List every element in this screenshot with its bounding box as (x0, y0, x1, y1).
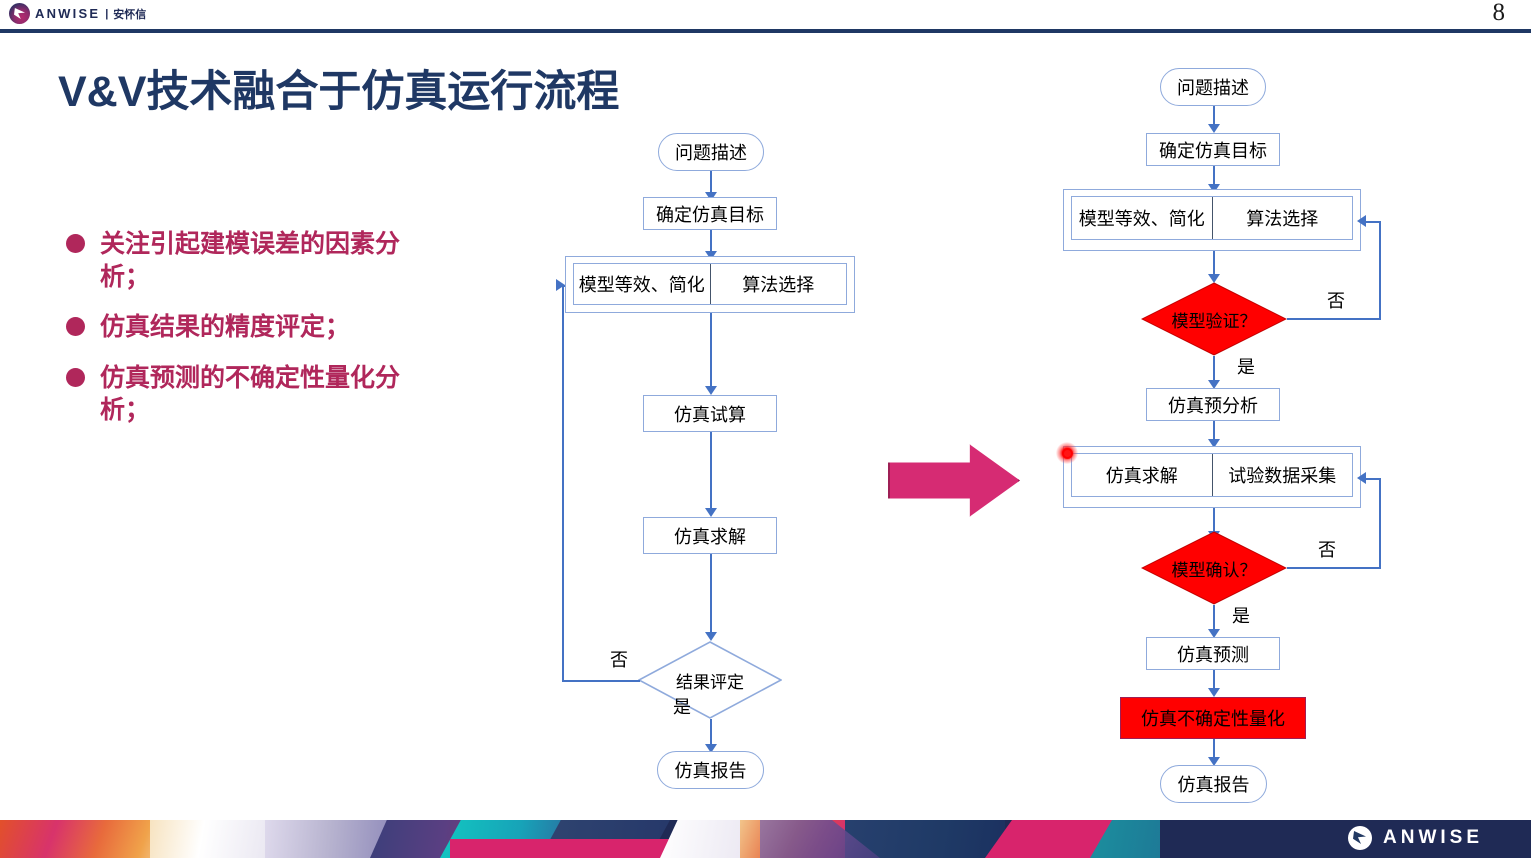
right-node-model-split: 模型等效、简化 算法选择 (1071, 196, 1353, 240)
right-node-algorithm: 算法选择 (1213, 197, 1353, 239)
left-node-report: 仿真报告 (657, 751, 764, 789)
bullet-text: 关注引起建模误差的因素分析； (100, 228, 400, 293)
right-edge-label-yes2: 是 (1232, 602, 1250, 628)
left-node-algorithm: 算法选择 (711, 264, 847, 304)
slide-footer: ANWISE (0, 820, 1531, 858)
right-node-pre-analysis: 仿真预分析 (1146, 388, 1280, 421)
left-edge-label-yes: 是 (673, 693, 691, 719)
left-node-evaluate-label: 结果评定 (638, 641, 782, 719)
footer-brand-text: ANWISE (1383, 827, 1483, 849)
left-arrowhead (705, 632, 717, 641)
right-edge-no1-v (1379, 221, 1381, 320)
list-item: 仿真预测的不确定性量化分析； (66, 362, 466, 427)
right-node-goal: 确定仿真目标 (1146, 133, 1280, 166)
right-node-validate-label: 模型确认？ (1141, 531, 1287, 605)
list-item: 关注引起建模误差的因素分析； (66, 228, 466, 293)
left-edge-label-no: 否 (610, 646, 628, 672)
left-arrowhead (705, 508, 717, 517)
right-node-validate: 模型确认？ (1141, 531, 1287, 605)
footer-band-segment (450, 839, 680, 858)
bullet-dot-icon (66, 368, 85, 387)
bullet-text: 仿真结果的精度评定； (100, 311, 400, 344)
left-edge-solve-evaluate (710, 554, 712, 636)
right-node-solve: 仿真求解 (1072, 454, 1213, 496)
right-edge-no2-h (1287, 567, 1381, 569)
footer-band-segment (150, 820, 280, 858)
right-node-uncertainty: 仿真不确定性量化 (1120, 697, 1306, 739)
left-node-model-split: 模型等效、简化 算法选择 (573, 263, 847, 305)
page-title: V&V技术融合于仿真运行流程 (58, 57, 619, 119)
right-node-solve-split: 仿真求解 试验数据采集 (1071, 453, 1353, 497)
left-edge-no-v (562, 285, 564, 681)
left-edge-model-trial (710, 313, 712, 391)
left-edge-trial-solve (710, 432, 712, 512)
right-arrowhead (1208, 124, 1220, 133)
right-node-predict: 仿真预测 (1146, 637, 1280, 670)
right-edge-label-no1: 否 (1327, 287, 1345, 313)
left-node-goal: 确定仿真目标 (643, 197, 777, 230)
header-logo: ANWISE | 安怀信 (9, 3, 146, 24)
brand-chinese-text: 安怀信 (113, 6, 146, 22)
bullet-text: 仿真预测的不确定性量化分析； (100, 362, 400, 427)
brand-divider: | (105, 8, 108, 20)
left-arrowhead-loop (556, 279, 565, 291)
footer-logo: ANWISE (1348, 826, 1483, 850)
right-node-verify-label: 模型验证？ (1141, 282, 1287, 356)
right-arrowhead-loop (1357, 472, 1366, 484)
right-edge-label-no2: 否 (1318, 536, 1336, 562)
left-node-evaluate: 结果评定 (638, 641, 782, 719)
header-divider (0, 29, 1531, 33)
right-node-report: 仿真报告 (1160, 765, 1267, 803)
right-arrowhead (1208, 688, 1220, 697)
right-node-start: 问题描述 (1160, 68, 1266, 106)
left-node-solve: 仿真求解 (643, 517, 777, 554)
anwise-logo-icon (9, 3, 30, 24)
right-edge-no2-v (1379, 478, 1381, 569)
left-node-trial: 仿真试算 (643, 395, 777, 432)
cursor-marker-icon (1056, 442, 1078, 464)
transition-arrow-icon (888, 443, 1020, 518)
slide-header: ANWISE | 安怀信 8 (0, 0, 1531, 30)
page-number: 8 (1493, 0, 1506, 27)
left-edge-no-h (562, 680, 640, 682)
right-edge-no2-top (1366, 478, 1381, 480)
right-node-data-collect: 试验数据采集 (1213, 454, 1353, 496)
left-node-model-simplify: 模型等效、简化 (574, 264, 711, 304)
bullet-dot-icon (66, 317, 85, 336)
right-node-verify: 模型验证？ (1141, 282, 1287, 356)
left-arrowhead (705, 386, 717, 395)
list-item: 仿真结果的精度评定； (66, 311, 466, 344)
bullet-dot-icon (66, 234, 85, 253)
right-arrowhead-loop (1357, 215, 1366, 227)
brand-latin-text: ANWISE (35, 7, 100, 20)
right-edge-no1-h (1287, 318, 1381, 320)
right-node-model-simplify: 模型等效、简化 (1072, 197, 1213, 239)
left-node-start: 问题描述 (658, 133, 764, 171)
right-edge-label-yes1: 是 (1237, 353, 1255, 379)
bullet-list: 关注引起建模误差的因素分析； 仿真结果的精度评定； 仿真预测的不确定性量化分析； (66, 228, 466, 445)
anwise-logo-icon (1348, 826, 1372, 850)
slide: ANWISE | 安怀信 8 V&V技术融合于仿真运行流程 关注引起建模误差的因… (0, 0, 1531, 858)
right-edge-no1-top (1366, 221, 1381, 223)
